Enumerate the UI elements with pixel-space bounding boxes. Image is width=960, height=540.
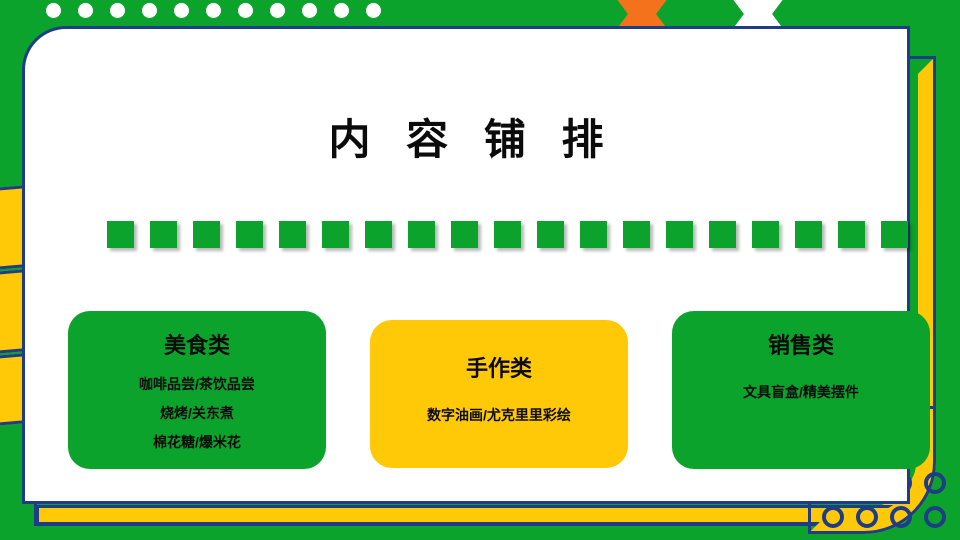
- decor-dot: [78, 3, 93, 18]
- category-items: 数字油画/尤克里里彩绘: [380, 386, 618, 454]
- divider-square: [537, 221, 564, 248]
- category-item: 文具盲盒/精美摆件: [682, 379, 920, 406]
- divider-square: [838, 221, 865, 248]
- decor-dot: [238, 3, 253, 18]
- divider-square: [150, 221, 177, 248]
- decor-ring: [924, 506, 946, 528]
- decor-dot: [334, 3, 349, 18]
- divider-square: [408, 221, 435, 248]
- divider-square: [881, 221, 908, 248]
- decor-ring: [822, 506, 844, 528]
- category-title: 美食类: [78, 333, 316, 359]
- decor-dot: [302, 3, 317, 18]
- divider-square-row: [107, 221, 908, 248]
- divider-square: [580, 221, 607, 248]
- divider-square: [795, 221, 822, 248]
- category-item: 数字油画/尤克里里彩绘: [380, 402, 618, 429]
- yellow-bottom-strip: [36, 505, 896, 525]
- divider-square: [623, 221, 650, 248]
- category-title: 手作类: [380, 356, 618, 382]
- divider-square: [236, 221, 263, 248]
- divider-square: [666, 221, 693, 248]
- divider-square: [494, 221, 521, 248]
- category-card-row: 美食类 咖啡品尝/茶饮品尝 烧烤/关东煮 棉花糖/爆米花 手作类 数字油画/尤克…: [68, 311, 940, 469]
- decor-ring: [856, 506, 878, 528]
- divider-square: [322, 221, 349, 248]
- divider-square: [752, 221, 779, 248]
- decor-dot: [142, 3, 157, 18]
- slide-root: 内 容 铺 排 美食类 咖啡品: [0, 0, 960, 540]
- category-card-food[interactable]: 美食类 咖啡品尝/茶饮品尝 烧烤/关东煮 棉花糖/爆米花: [68, 311, 326, 469]
- divider-square: [709, 221, 736, 248]
- divider-square: [193, 221, 220, 248]
- decor-dot: [206, 3, 221, 18]
- page-title: 内 容 铺 排: [25, 119, 907, 161]
- content-panel: 内 容 铺 排 美食类 咖啡品: [22, 26, 910, 504]
- divider-square: [107, 221, 134, 248]
- decor-dot: [270, 3, 285, 18]
- category-item: 咖啡品尝/茶饮品尝: [78, 371, 316, 398]
- decor-dot: [46, 3, 61, 18]
- decor-ring: [890, 506, 912, 528]
- divider-square: [451, 221, 478, 248]
- decor-ring: [924, 472, 946, 494]
- decor-dot: [110, 3, 125, 18]
- category-card-handcraft[interactable]: 手作类 数字油画/尤克里里彩绘: [370, 320, 628, 468]
- category-title: 销售类: [682, 333, 920, 359]
- category-items: 文具盲盒/精美摆件: [682, 363, 920, 455]
- top-dot-row: [46, 3, 381, 18]
- category-item: 棉花糖/爆米花: [78, 429, 316, 456]
- divider-square: [365, 221, 392, 248]
- decor-dot: [174, 3, 189, 18]
- category-item: 烧烤/关东煮: [78, 400, 316, 427]
- decor-dot: [366, 3, 381, 18]
- category-card-sales[interactable]: 销售类 文具盲盒/精美摆件: [672, 311, 930, 469]
- category-items: 咖啡品尝/茶饮品尝 烧烤/关东煮 棉花糖/爆米花: [78, 363, 316, 455]
- divider-square: [279, 221, 306, 248]
